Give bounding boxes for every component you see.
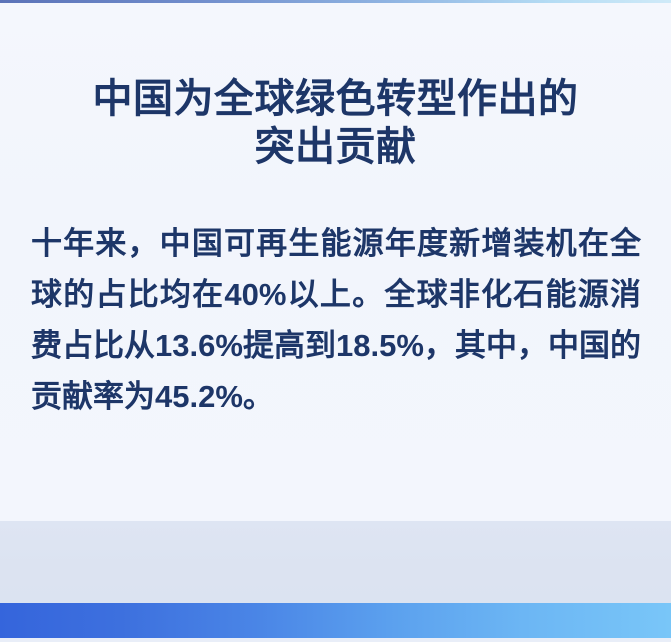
lower-band-gradient-bar xyxy=(0,603,671,638)
infographic-poster: 中国为全球绿色转型作出的 突出贡献 十年来，中国可再生能源年度新增装机在全球的占… xyxy=(0,0,671,642)
lower-band-footer-strip xyxy=(0,638,671,642)
poster-content: 中国为全球绿色转型作出的 突出贡献 十年来，中国可再生能源年度新增装机在全球的占… xyxy=(0,3,671,521)
page-title-line-1: 中国为全球绿色转型作出的 xyxy=(0,75,671,123)
page-title-line-2: 突出贡献 xyxy=(0,123,671,171)
page-title: 中国为全球绿色转型作出的 突出贡献 xyxy=(0,75,671,171)
lower-band-light-blue xyxy=(0,521,671,603)
body-paragraph: 十年来，中国可再生能源年度新增装机在全球的占比均在40%以上。全球非化石能源消费… xyxy=(31,218,641,422)
body-paragraph-block: 十年来，中国可再生能源年度新增装机在全球的占比均在40%以上。全球非化石能源消费… xyxy=(31,218,641,422)
